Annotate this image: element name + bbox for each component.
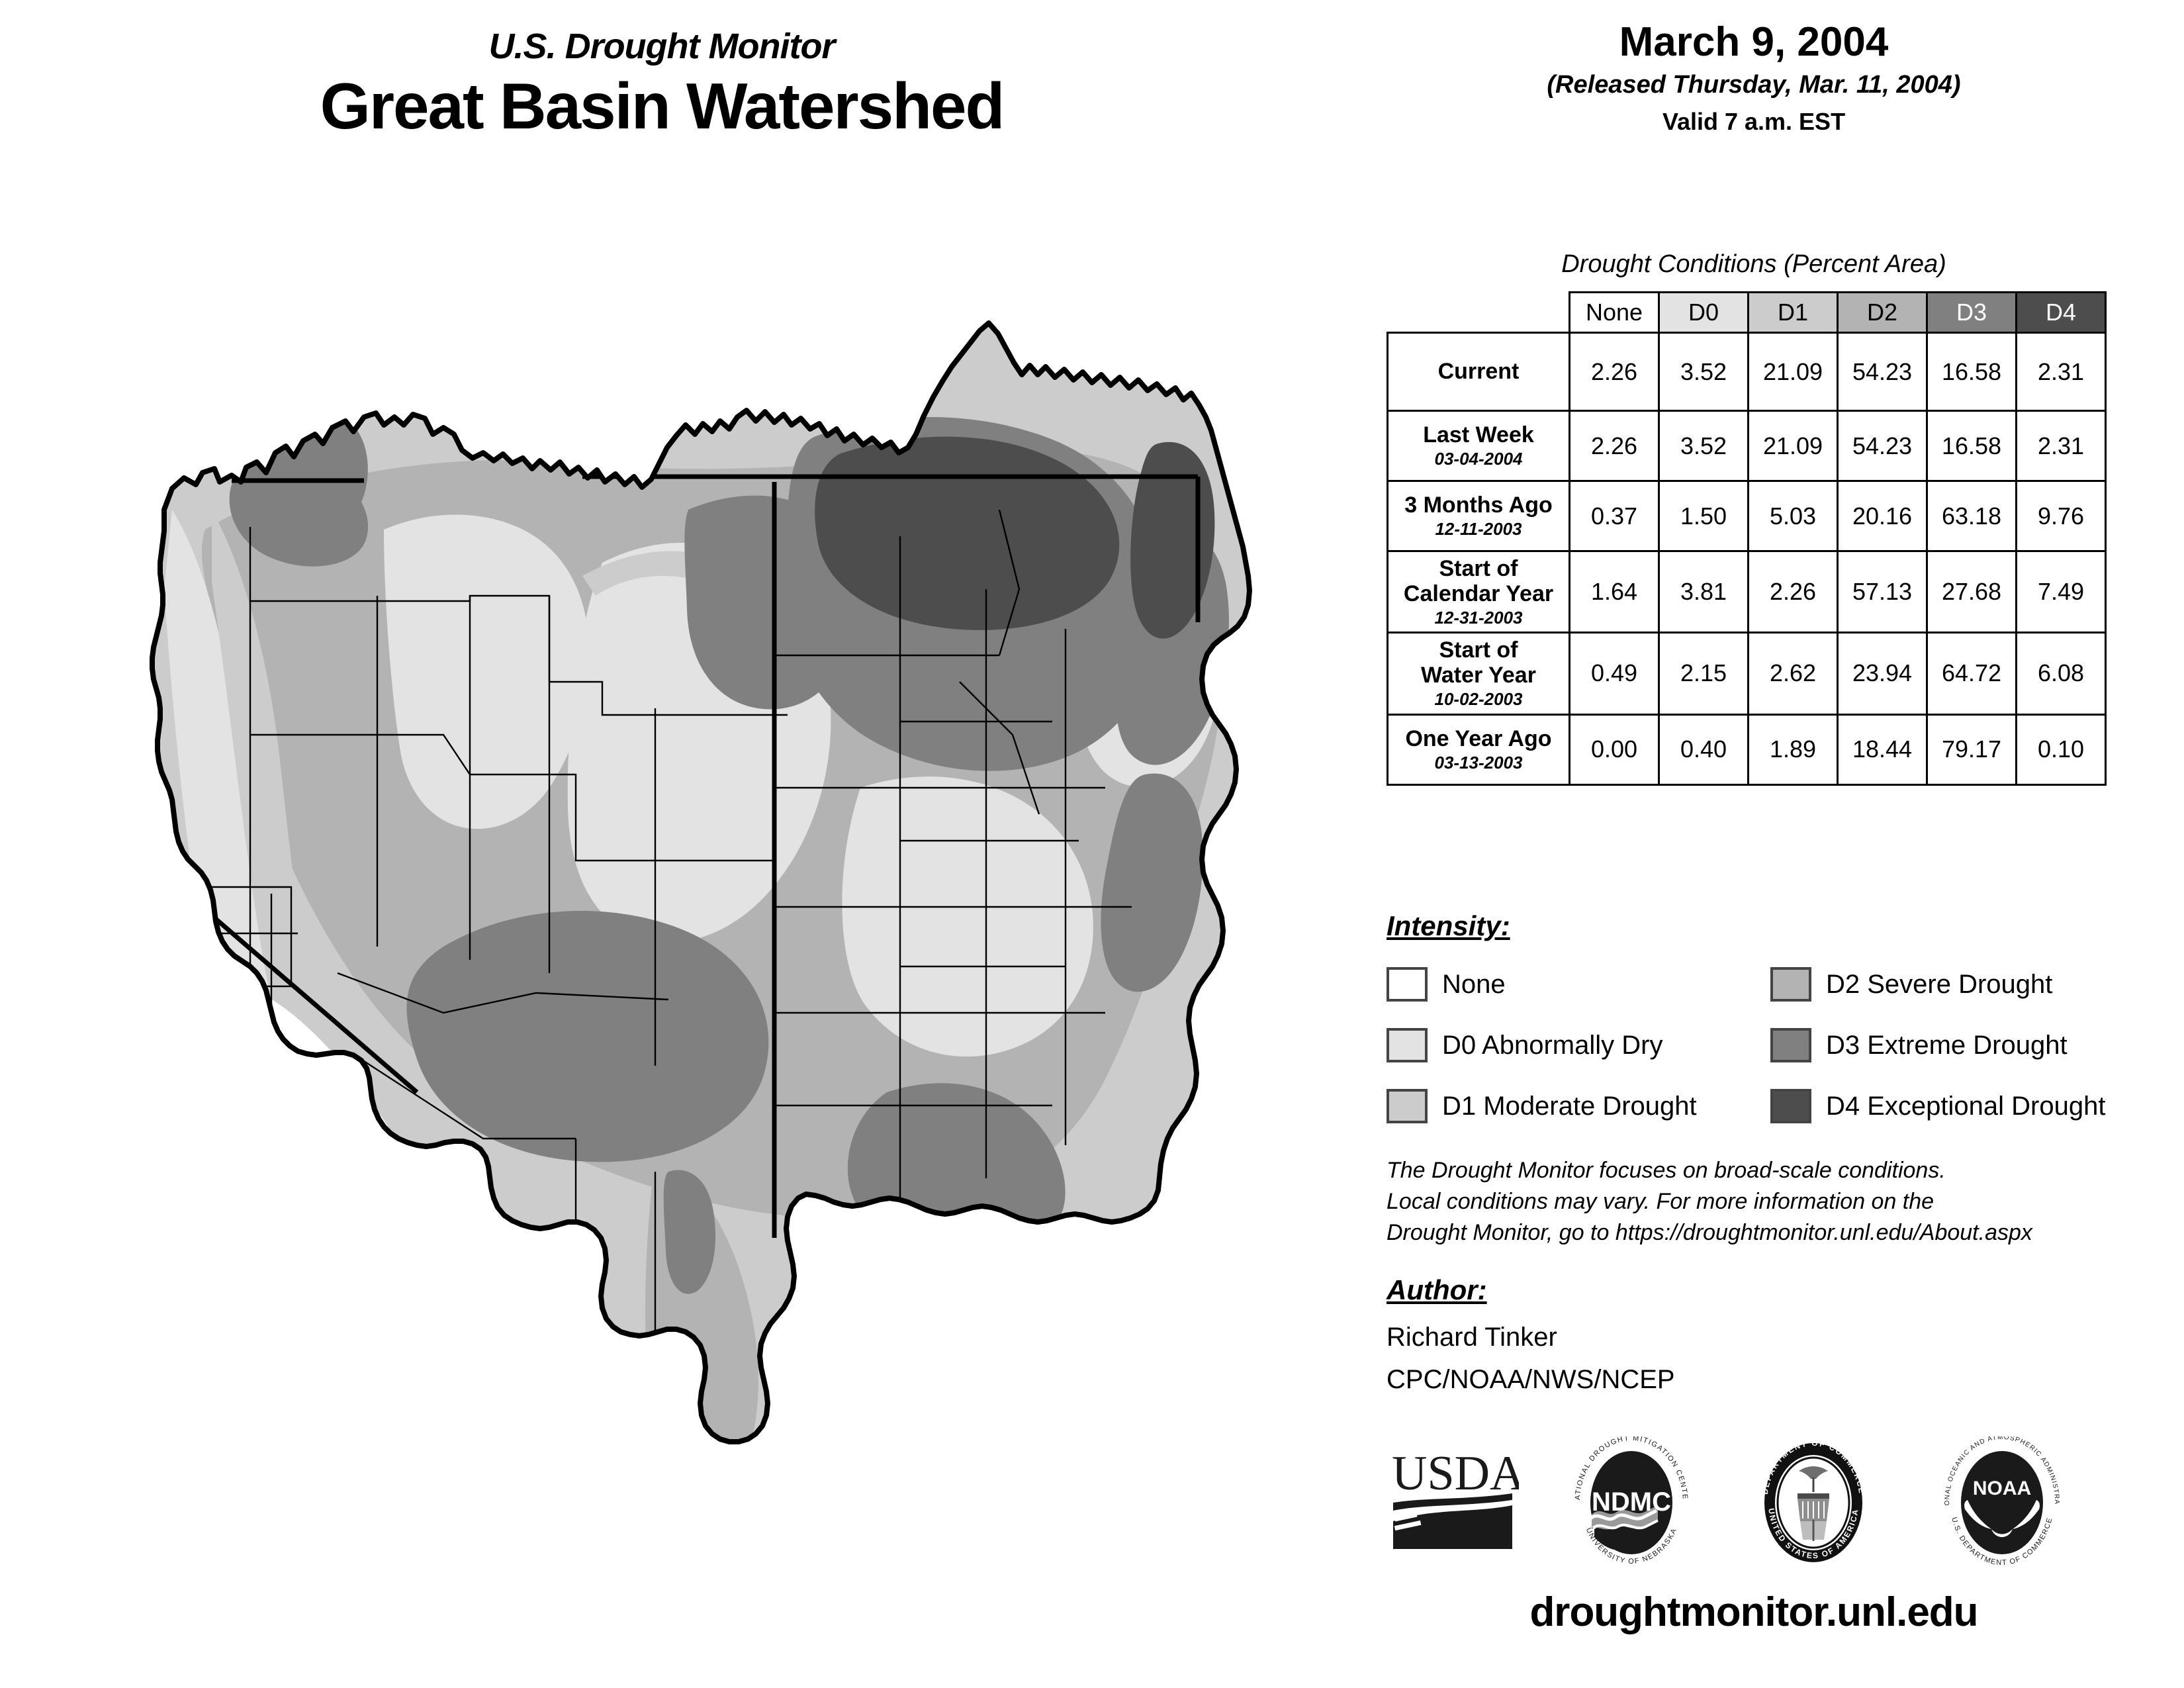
table-cell-d3: 79.17 [1927,714,2017,784]
legend-item: None [1387,959,1697,1010]
table-cell-d3: 16.58 [1927,411,2017,481]
legend-label: D3 Extreme Drought [1826,1031,2068,1060]
legend-label: D1 Moderate Drought [1442,1092,1697,1121]
sponsor-logos: USDA NDMC NATIONAL DROUGHT MITIGATION CE… [1387,1436,2154,1575]
author-name: Richard Tinker [1387,1323,1557,1352]
row-label: Last Week03-04-2004 [1388,411,1570,481]
row-label-line: Water Year [1391,663,1566,688]
table-cell-none: 1.64 [1570,551,1659,633]
title-block: U.S. Drought Monitor Great Basin Watersh… [0,0,1324,140]
date-block: March 9, 2004 (Released Thursday, Mar. 1… [1343,20,2164,135]
table-cell-none: 2.26 [1570,333,1659,411]
table-cell-d1: 1.89 [1749,714,1838,784]
usda-logo: USDA [1387,1436,1519,1569]
map-drought-fills [73,311,1304,1523]
legend-label: D2 Severe Drought [1826,970,2052,1000]
intensity-heading: Intensity: [1387,910,1510,942]
drought-map[interactable] [73,311,1304,1523]
table-cell-d1: 5.03 [1749,481,1838,551]
issue-date: March 9, 2004 [1343,20,2164,65]
legend-swatch-icon [1770,967,1811,1002]
legend-label: None [1442,970,1506,1000]
table-row: One Year Ago03-13-20030.000.401.8918.447… [1388,714,2106,784]
note-line-1: The Drought Monitor focuses on broad-sca… [1387,1155,2181,1186]
row-label-line: Start of [1391,556,1566,581]
row-label: 3 Months Ago12-11-2003 [1388,481,1570,551]
row-label-line: Last Week [1391,422,1566,447]
legend-item: D4 Exceptional Drought [1770,1080,2105,1132]
legend-label: D0 Abnormally Dry [1442,1031,1662,1060]
drought-conditions-table: None D0 D1 D2 D3 D4 Current2.263.5221.09… [1387,291,2107,786]
row-label-date: 03-04-2004 [1391,449,1566,469]
legend-column-left: NoneD0 Abnormally DryD1 Moderate Drought [1387,959,1697,1141]
table-row: Last Week03-04-20042.263.5221.0954.2316.… [1388,411,2106,481]
row-label-line: Current [1391,359,1566,384]
author-heading: Author: [1387,1274,1487,1306]
table-cell-none: 0.37 [1570,481,1659,551]
table-header-row: None D0 D1 D2 D3 D4 [1388,293,2106,333]
table-cell-d0: 3.81 [1659,551,1749,633]
row-label: Start ofCalendar Year12-31-2003 [1388,551,1570,633]
table-cell-d2: 23.94 [1838,633,1927,714]
legend-label: D4 Exceptional Drought [1826,1092,2105,1121]
table-cell-d1: 2.26 [1749,551,1838,633]
legend-column-right: D2 Severe DroughtD3 Extreme DroughtD4 Ex… [1770,959,2105,1141]
table-cell-d4: 0.10 [2017,714,2106,784]
table-row: 3 Months Ago12-11-20030.371.505.0320.166… [1388,481,2106,551]
table-cell-d2: 54.23 [1838,411,1927,481]
table-cell-d2: 18.44 [1838,714,1927,784]
table-cell-none: 0.00 [1570,714,1659,784]
row-label-date: 03-13-2003 [1391,753,1566,773]
row-label-line: Start of [1391,637,1566,663]
table-cell-d1: 2.62 [1749,633,1838,714]
row-label-line: One Year Ago [1391,726,1566,751]
note-line-2: Local conditions may vary. For more info… [1387,1186,2181,1217]
row-label: One Year Ago03-13-2003 [1388,714,1570,784]
row-label-line: 3 Months Ago [1391,492,1566,518]
svg-text:NDMC: NDMC [1592,1487,1671,1517]
row-label: Current [1388,333,1570,411]
table-cell-d4: 7.49 [2017,551,2106,633]
product-title: U.S. Drought Monitor [0,28,1324,66]
column-header-none: None [1570,293,1659,333]
table-cell-d3: 27.68 [1927,551,2017,633]
table-cell-d0: 1.50 [1659,481,1749,551]
map-svg[interactable] [73,311,1304,1523]
table-cell-d2: 20.16 [1838,481,1927,551]
svg-text:NOAA: NOAA [1973,1477,2031,1499]
table-cell-d0: 3.52 [1659,411,1749,481]
table-caption: Drought Conditions (Percent Area) [1343,250,2164,279]
table-cell-d2: 57.13 [1838,551,1927,633]
ndmc-logo: NDMC NATIONAL DROUGHT MITIGATION CENTER … [1565,1436,1698,1569]
noaa-logo: NOAA NATIONAL OCEANIC AND ATMOSPHERIC AD… [1936,1436,2068,1569]
legend-swatch-icon [1770,1028,1811,1062]
legend-swatch-icon [1387,1028,1428,1062]
table-header: None D0 D1 D2 D3 D4 [1388,293,2106,333]
legend-item: D0 Abnormally Dry [1387,1019,1697,1071]
table-cell-d4: 9.76 [2017,481,2106,551]
column-header-d2: D2 [1838,293,1927,333]
column-header-d3: D3 [1927,293,2017,333]
table-cell-d3: 63.18 [1927,481,2017,551]
table-cell-d1: 21.09 [1749,411,1838,481]
table-row: Start ofCalendar Year12-31-20031.643.812… [1388,551,2106,633]
valid-time: Valid 7 a.m. EST [1343,109,2164,135]
table-cell-d3: 64.72 [1927,633,2017,714]
legend-item: D1 Moderate Drought [1387,1080,1697,1132]
table-cell-d4: 2.31 [2017,411,2106,481]
table-body: Current2.263.5221.0954.2316.582.31Last W… [1388,333,2106,785]
row-label: Start ofWater Year10-02-2003 [1388,633,1570,714]
table-row: Current2.263.5221.0954.2316.582.31 [1388,333,2106,411]
site-url: droughtmonitor.unl.edu [1343,1589,2164,1636]
author-organization: CPC/NOAA/NWS/NCEP [1387,1365,1675,1395]
table-cell-d2: 54.23 [1838,333,1927,411]
row-label-date: 12-11-2003 [1391,520,1566,539]
legend-item: D3 Extreme Drought [1770,1019,2105,1071]
column-header-d4: D4 [2017,293,2106,333]
table-corner-cell [1388,293,1570,333]
table-cell-d3: 16.58 [1927,333,2017,411]
table-cell-none: 2.26 [1570,411,1659,481]
legend-swatch-icon [1770,1089,1811,1123]
doc-logo: DEPARTMENT OF COMMERCE UNITED STATES OF … [1747,1436,1880,1569]
legend-swatch-icon [1387,967,1428,1002]
legend-item: D2 Severe Drought [1770,959,2105,1010]
note-line-3: Drought Monitor, go to https://droughtmo… [1387,1217,2181,1248]
row-label-line: Calendar Year [1391,581,1566,606]
table-row: Start ofWater Year10-02-20030.492.152.62… [1388,633,2106,714]
table-cell-d1: 21.09 [1749,333,1838,411]
svg-text:USDA: USDA [1392,1446,1519,1501]
table-cell-none: 0.49 [1570,633,1659,714]
column-header-d1: D1 [1749,293,1838,333]
legend-swatch-icon [1387,1089,1428,1123]
table-cell-d4: 6.08 [2017,633,2106,714]
row-label-date: 12-31-2003 [1391,608,1566,628]
table-cell-d4: 2.31 [2017,333,2106,411]
release-date: (Released Thursday, Mar. 11, 2004) [1343,71,2164,99]
column-header-d0: D0 [1659,293,1749,333]
row-label-date: 10-02-2003 [1391,690,1566,709]
region-title: Great Basin Watershed [0,72,1324,140]
table-cell-d0: 2.15 [1659,633,1749,714]
table-cell-d0: 3.52 [1659,333,1749,411]
table-cell-d0: 0.40 [1659,714,1749,784]
disclaimer-note: The Drought Monitor focuses on broad-sca… [1387,1155,2181,1248]
